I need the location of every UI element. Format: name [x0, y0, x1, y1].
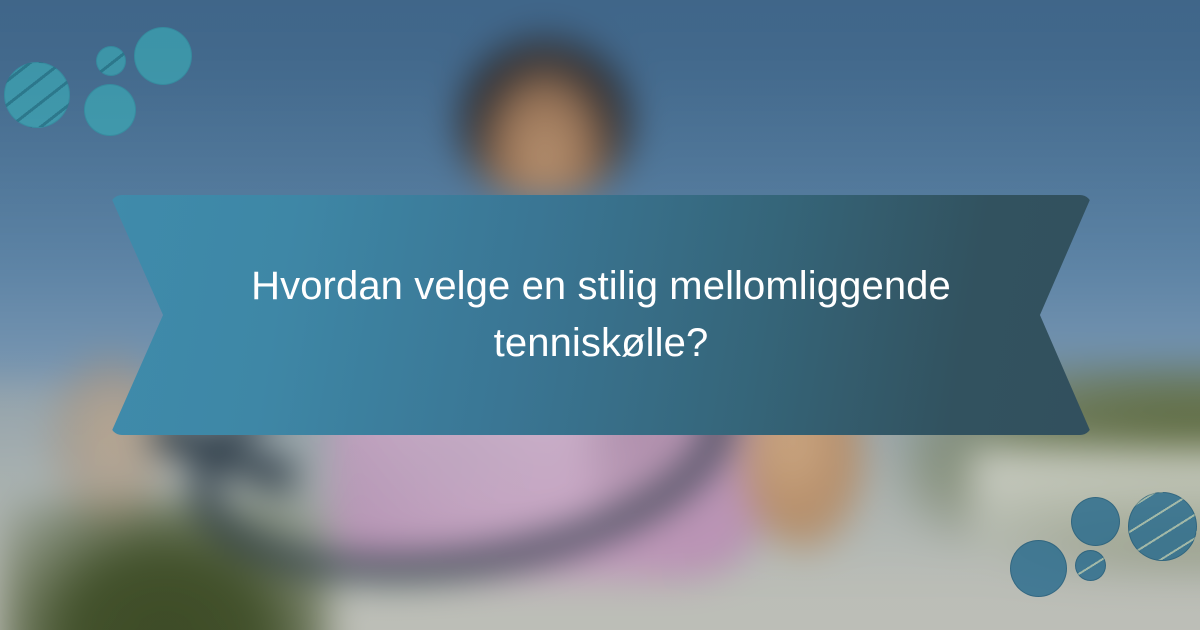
- decor-circle-bottom-right-striped-large: [1128, 492, 1197, 561]
- decor-circle-top-left-striped-small: [96, 46, 126, 76]
- decor-circle-bottom-right-plain-medium: [1010, 540, 1067, 597]
- decor-circle-bottom-right-striped-small: [1075, 550, 1106, 581]
- title-banner-inner: Hvordan velge en stilig mellomliggende t…: [221, 258, 981, 372]
- social-card: Hvordan velge en stilig mellomliggende t…: [0, 0, 1200, 630]
- decor-circle-top-left-plain-large: [134, 27, 192, 85]
- decor-circle-top-left-plain-medium: [84, 84, 136, 136]
- decor-circle-bottom-right-plain-upper: [1071, 497, 1120, 546]
- title-banner: Hvordan velge en stilig mellomliggende t…: [110, 195, 1092, 435]
- page-title: Hvordan velge en stilig mellomliggende t…: [221, 258, 981, 372]
- decor-circle-top-left-striped-large: [4, 62, 70, 128]
